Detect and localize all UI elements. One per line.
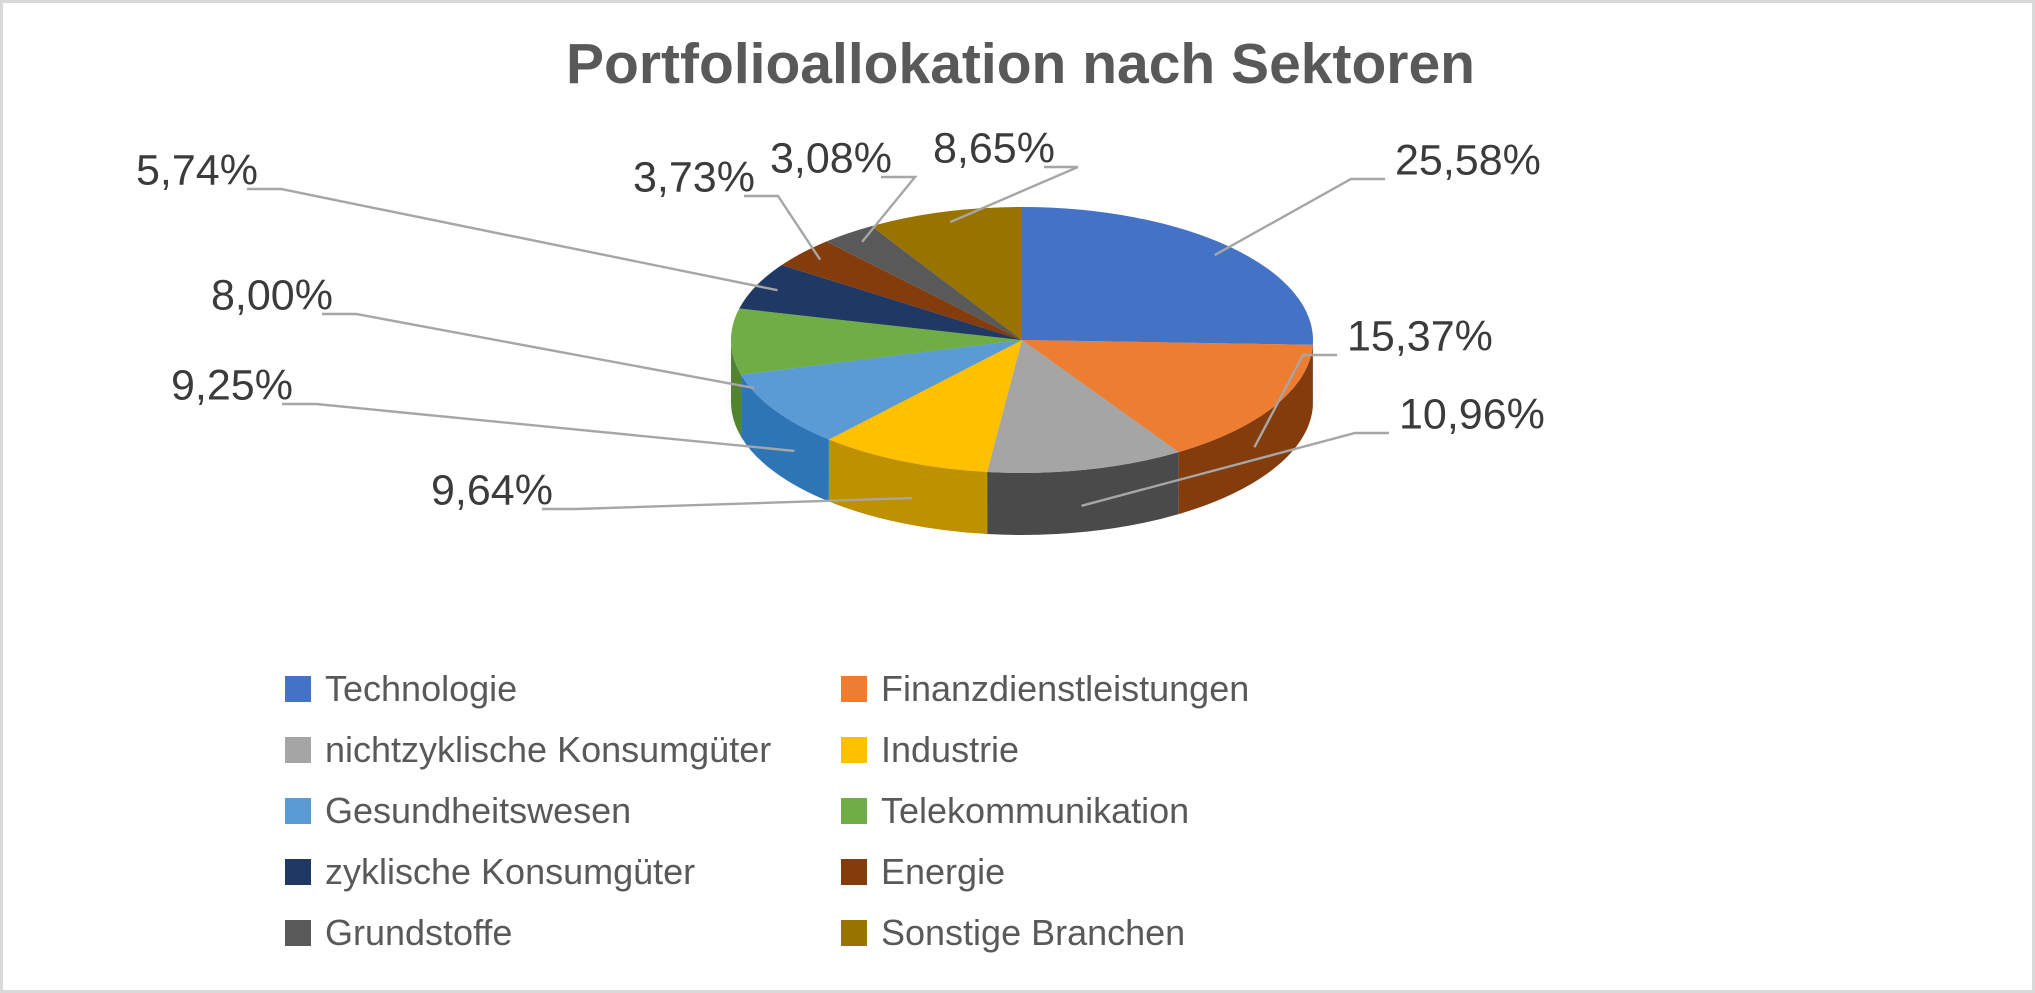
legend-item[interactable]: zyklische Konsumgüter bbox=[285, 841, 841, 902]
data-label: 9,25% bbox=[171, 361, 293, 409]
legend-item[interactable]: nichtzyklische Konsumgüter bbox=[285, 719, 841, 780]
legend-color-swatch-icon bbox=[285, 859, 311, 885]
data-label: 8,00% bbox=[211, 271, 333, 319]
legend-color-swatch-icon bbox=[841, 676, 867, 702]
legend-item-label: zyklische Konsumgüter bbox=[325, 854, 695, 890]
legend-item[interactable]: Energie bbox=[841, 841, 1397, 902]
leader-line bbox=[1215, 179, 1385, 255]
legend-item[interactable]: Telekommunikation bbox=[841, 780, 1397, 841]
chart-frame: Portfolioallokation nach Sektoren 25,58%… bbox=[0, 0, 2035, 993]
legend-color-swatch-icon bbox=[841, 920, 867, 946]
legend-item-label: Energie bbox=[881, 854, 1005, 890]
data-label: 5,74% bbox=[136, 146, 258, 194]
data-label: 15,37% bbox=[1347, 312, 1493, 360]
legend-item[interactable]: Grundstoffe bbox=[285, 902, 841, 963]
data-label: 25,58% bbox=[1395, 136, 1541, 184]
legend-color-swatch-icon bbox=[841, 859, 867, 885]
legend-color-swatch-icon bbox=[285, 676, 311, 702]
legend-item-label: nichtzyklische Konsumgüter bbox=[325, 732, 771, 768]
pie-top-slices[interactable] bbox=[731, 207, 1313, 473]
legend-color-swatch-icon bbox=[285, 920, 311, 946]
legend-color-swatch-icon bbox=[841, 798, 867, 824]
legend-item-label: Industrie bbox=[881, 732, 1019, 768]
legend-item[interactable]: Technologie bbox=[285, 658, 841, 719]
legend-item[interactable]: Gesundheitswesen bbox=[285, 780, 841, 841]
pie-chart-svg: 25,58%15,37%10,96%9,64%9,25%8,00%5,74%3,… bbox=[3, 3, 2035, 673]
legend-color-swatch-icon bbox=[285, 737, 311, 763]
legend-item-label: Gesundheitswesen bbox=[325, 793, 631, 829]
pie-slice-technologie[interactable] bbox=[1022, 207, 1313, 345]
legend-item-label: Sonstige Branchen bbox=[881, 915, 1185, 951]
leader-line bbox=[282, 404, 794, 451]
legend-item-label: Grundstoffe bbox=[325, 915, 512, 951]
chart-legend[interactable]: TechnologieFinanzdienstleistungennichtzy… bbox=[285, 658, 1635, 963]
pie-plot-area[interactable]: 25,58%15,37%10,96%9,64%9,25%8,00%5,74%3,… bbox=[3, 3, 2035, 673]
legend-item-label: Telekommunikation bbox=[881, 793, 1189, 829]
legend-color-swatch-icon bbox=[285, 798, 311, 824]
legend-item[interactable]: Sonstige Branchen bbox=[841, 902, 1397, 963]
data-label: 3,08% bbox=[770, 134, 892, 182]
data-label: 3,73% bbox=[633, 153, 755, 201]
legend-item[interactable]: Finanzdienstleistungen bbox=[841, 658, 1397, 719]
data-label: 8,65% bbox=[933, 124, 1055, 172]
legend-item-label: Technologie bbox=[325, 671, 517, 707]
data-label: 9,64% bbox=[431, 466, 553, 514]
legend-item-label: Finanzdienstleistungen bbox=[881, 671, 1249, 707]
legend-color-swatch-icon bbox=[841, 737, 867, 763]
legend-item[interactable]: Industrie bbox=[841, 719, 1397, 780]
leader-line bbox=[322, 314, 754, 388]
data-label: 10,96% bbox=[1399, 390, 1545, 438]
